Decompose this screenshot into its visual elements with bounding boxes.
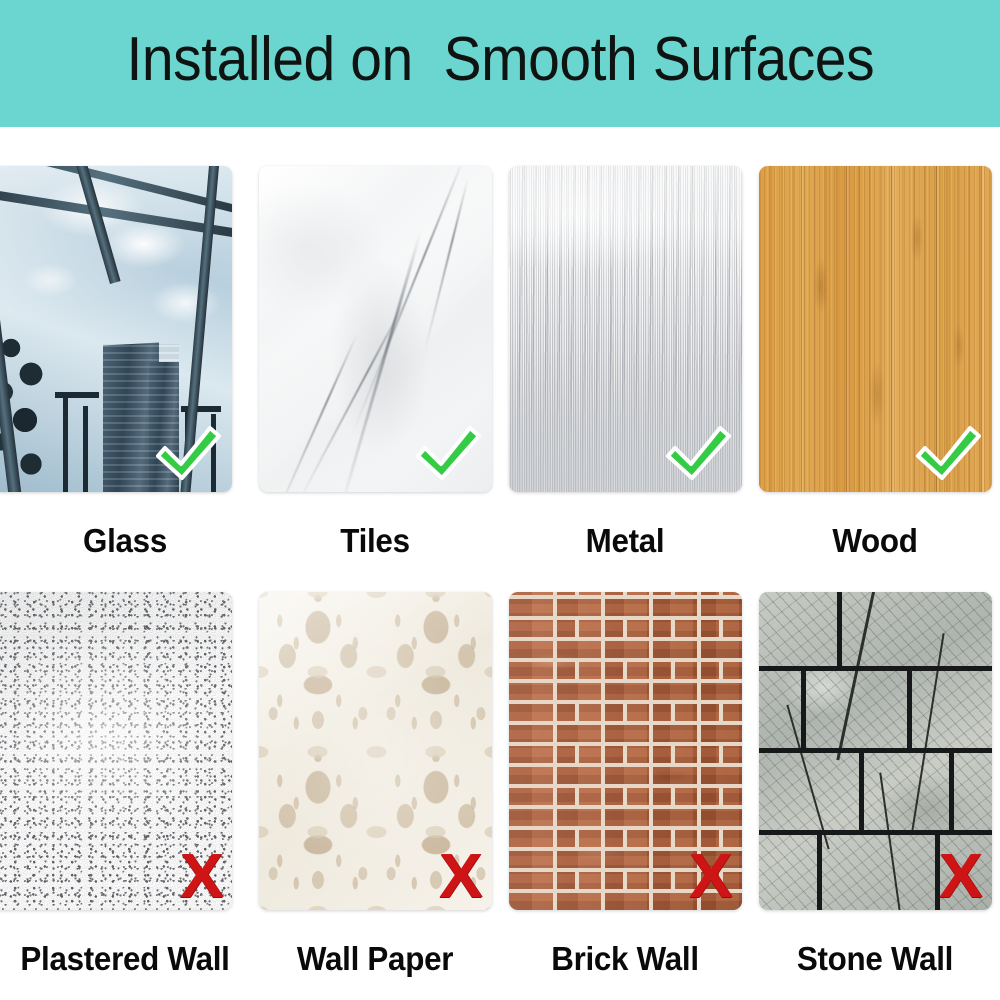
surface-label-wall-paper: Wall Paper bbox=[256, 940, 494, 978]
glass-post-2 bbox=[83, 406, 88, 492]
glass-rail-1 bbox=[55, 392, 99, 398]
page-title: Installed on Smooth Surfaces bbox=[126, 29, 874, 99]
stone-joint-horizontal-1 bbox=[759, 666, 992, 671]
incompatible-surfaces-row: X X bbox=[0, 592, 1000, 910]
surface-cell-tiles bbox=[250, 166, 500, 492]
infographic-page: Installed on Smooth Surfaces bbox=[0, 0, 1000, 1000]
surface-tile-stone-wall[interactable]: X bbox=[759, 592, 992, 910]
stone-joint-vertical-3 bbox=[801, 671, 806, 748]
stone-joint-vertical-4 bbox=[859, 753, 864, 830]
surface-tile-metal[interactable] bbox=[509, 166, 742, 492]
surface-cell-plastered-wall: X bbox=[0, 592, 250, 910]
surface-cell-wood bbox=[750, 166, 1000, 492]
header-band: Installed on Smooth Surfaces bbox=[0, 0, 1000, 127]
surface-label-wood: Wood bbox=[756, 522, 994, 560]
surface-label-plastered-wall: Plastered Wall bbox=[6, 940, 244, 978]
stone-joint-vertical-2 bbox=[907, 671, 912, 748]
surface-label-glass: Glass bbox=[6, 522, 244, 560]
surface-tile-tiles[interactable] bbox=[259, 166, 492, 492]
surface-tile-wall-paper[interactable]: X bbox=[259, 592, 492, 910]
red-x-icon: X bbox=[939, 846, 982, 908]
surface-cell-wall-paper: X bbox=[250, 592, 500, 910]
green-check-icon bbox=[152, 422, 224, 486]
red-x-icon: X bbox=[180, 846, 223, 908]
green-check-icon bbox=[662, 422, 734, 486]
red-x-icon: X bbox=[439, 846, 482, 908]
surface-tile-wood[interactable] bbox=[759, 166, 992, 492]
stone-joint-vertical-5 bbox=[949, 753, 954, 830]
stone-joint-vertical-6 bbox=[817, 835, 822, 910]
stone-joint-horizontal-3 bbox=[759, 830, 992, 835]
green-check-icon bbox=[412, 422, 484, 486]
surface-label-brick-wall: Brick Wall bbox=[506, 940, 744, 978]
glass-post-1 bbox=[63, 398, 68, 492]
surface-cell-glass bbox=[0, 166, 250, 492]
green-check-icon bbox=[912, 422, 984, 486]
stone-joint-horizontal-2 bbox=[759, 748, 992, 753]
surface-cell-metal bbox=[500, 166, 750, 492]
surface-label-tiles: Tiles bbox=[256, 522, 494, 560]
compatible-surface-labels: Glass Tiles Metal Wood bbox=[0, 522, 1000, 560]
surface-tile-glass[interactable] bbox=[0, 166, 232, 492]
surface-label-metal: Metal bbox=[506, 522, 744, 560]
surface-cell-brick-wall: X bbox=[500, 592, 750, 910]
surface-label-stone-wall: Stone Wall bbox=[756, 940, 994, 978]
surface-tile-plastered-wall[interactable]: X bbox=[0, 592, 232, 910]
surface-cell-stone-wall: X bbox=[750, 592, 1000, 910]
red-x-icon: X bbox=[689, 846, 732, 908]
surface-tile-brick-wall[interactable]: X bbox=[509, 592, 742, 910]
incompatible-surface-labels: Plastered Wall Wall Paper Brick Wall Sto… bbox=[0, 940, 1000, 978]
compatible-surfaces-row bbox=[0, 166, 1000, 492]
stone-joint-vertical-1 bbox=[837, 592, 842, 666]
